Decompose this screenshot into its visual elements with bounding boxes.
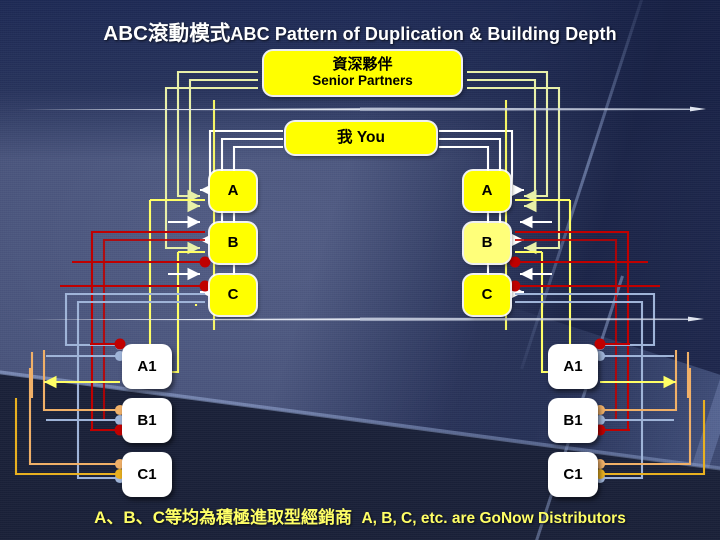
box-tier1-right-c[interactable]: C	[464, 275, 510, 315]
box-tier2-left-c1-label: C1	[137, 466, 156, 483]
title-cn: ABC滾動模式	[103, 22, 230, 45]
slide-footer: A、B、C等均為積極進取型經銷商 A, B, C, etc. are GoNow…	[0, 503, 720, 528]
box-tier2-right-c1-label: C1	[563, 466, 582, 483]
box-tier1-left-a[interactable]: A	[210, 171, 256, 211]
box-tier1-left-a-label: A	[228, 183, 239, 199]
box-tier2-right-a1-label: A1	[563, 358, 582, 375]
box-tier1-right-c-label: C	[482, 287, 493, 303]
box-tier1-right-b-label: B	[482, 235, 493, 251]
box-senior-partners[interactable]: 資深夥伴 Senior Partners	[264, 51, 461, 95]
title-en: ABC Pattern of Duplication & Building De…	[230, 24, 616, 44]
box-tier2-right-b1-label: B1	[563, 412, 582, 429]
footer-en: A, B, C, etc. are GoNow Distributors	[361, 510, 625, 527]
box-senior-partners-cn: 資深夥伴	[332, 57, 392, 73]
footer-cn: A、B、C等均為積極進取型經銷商	[94, 508, 352, 527]
slide-title: ABC滾動模式ABC Pattern of Duplication & Buil…	[0, 16, 720, 46]
box-tier2-right-c1[interactable]: C1	[548, 452, 598, 497]
box-tier1-left-b[interactable]: B	[210, 223, 256, 263]
box-you-label: 我 You	[337, 130, 385, 147]
box-you[interactable]: 我 You	[286, 122, 436, 154]
box-tier1-right-b[interactable]: B	[464, 223, 510, 263]
box-tier2-left-a1-label: A1	[137, 358, 156, 375]
box-senior-partners-en: Senior Partners	[312, 74, 413, 89]
box-tier1-left-b-label: B	[228, 235, 239, 251]
box-tier2-right-a1[interactable]: A1	[548, 344, 598, 389]
box-tier1-right-a[interactable]: A	[464, 171, 510, 211]
box-tier2-left-b1[interactable]: B1	[122, 398, 172, 443]
box-tier1-left-c[interactable]: C	[210, 275, 256, 315]
box-tier1-left-c-label: C	[228, 287, 239, 303]
box-tier2-left-b1-label: B1	[137, 412, 156, 429]
slide-canvas: ABC滾動模式ABC Pattern of Duplication & Buil…	[0, 0, 720, 540]
box-tier1-right-a-label: A	[482, 183, 493, 199]
box-tier2-right-b1[interactable]: B1	[548, 398, 598, 443]
box-tier2-left-c1[interactable]: C1	[122, 452, 172, 497]
box-tier2-left-a1[interactable]: A1	[122, 344, 172, 389]
